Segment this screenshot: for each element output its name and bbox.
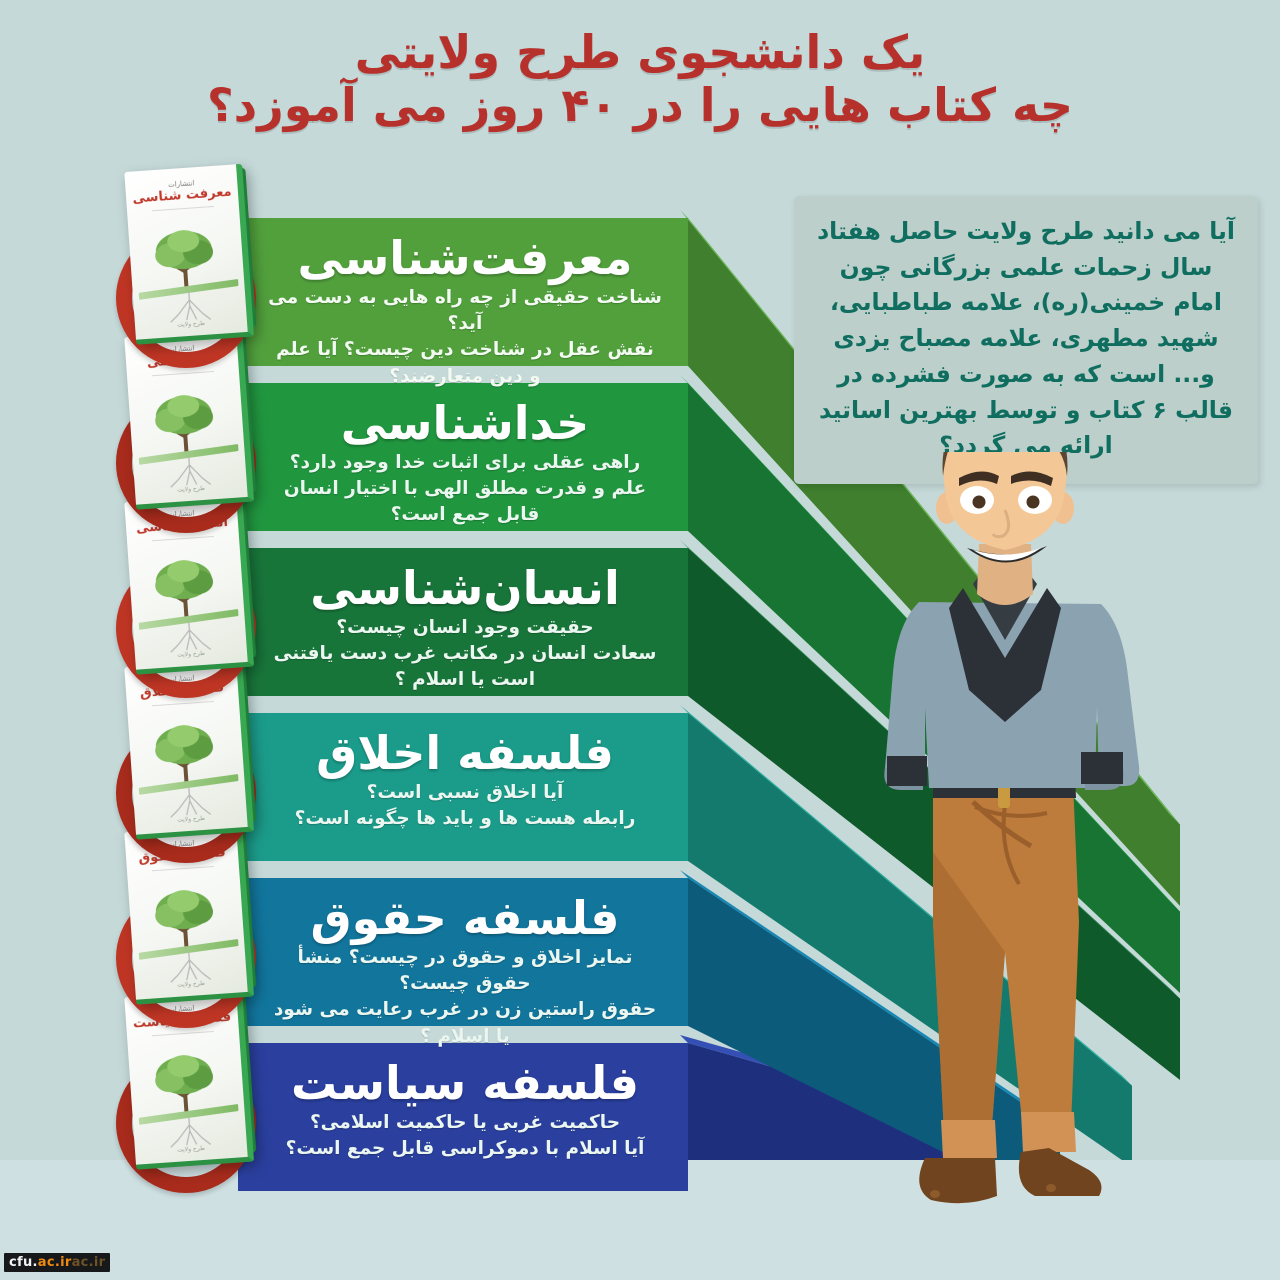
band-5-title: فلسفه حقوق bbox=[268, 894, 662, 943]
book-group-1[interactable]: انتشارات معرفت شناسی طرح ولایت bbox=[108, 166, 283, 366]
student-character-illustration bbox=[855, 452, 1155, 1252]
band-3-subtitle-1: حقیقت وجود انسان چیست؟ bbox=[268, 615, 662, 641]
book-4-rule bbox=[152, 701, 215, 706]
band-4-title: فلسفه اخلاق bbox=[268, 729, 662, 778]
book-6-rule bbox=[152, 1031, 215, 1036]
book-1-cover: انتشارات معرفت شناسی طرح ولایت bbox=[124, 164, 254, 345]
book-5-rule bbox=[152, 866, 215, 871]
info-callout-text: آیا می دانید طرح ولایت حاصل هفتاد سال زح… bbox=[816, 214, 1236, 464]
band-6[interactable]: فلسفه سیاست حاکمیت غربی یا حاکمیت اسلامی… bbox=[238, 1043, 688, 1191]
band-5[interactable]: فلسفه حقوق تمایز اخلاق و حقوق در چیست؟ م… bbox=[238, 878, 688, 1026]
title-line-2: چه کتاب هایی را در ۴۰ روز می آموزد؟ bbox=[0, 79, 1280, 132]
band-6-title: فلسفه سیاست bbox=[268, 1059, 662, 1108]
band-1-subtitle-1: شناخت حقیقی از چه راه هایی به دست می آید… bbox=[268, 285, 662, 338]
book-1-rule bbox=[152, 206, 215, 211]
band-3-subtitle-2: سعادت انسان در مکاتب غرب دست یافتنی است … bbox=[268, 641, 662, 694]
band-5-subtitle-2: حقوق راستین زن در غرب رعایت می شود یا اس… bbox=[268, 997, 662, 1050]
band-2[interactable]: خداشناسی راهی عقلی برای اثبات خدا وجود د… bbox=[238, 383, 688, 531]
book-2-rule bbox=[152, 371, 215, 376]
info-callout-box: آیا می دانید طرح ولایت حاصل هفتاد سال زح… bbox=[794, 196, 1258, 484]
band-2-subtitle-2: علم و قدرت مطلق الهی با اختیار انسان قاب… bbox=[268, 476, 662, 529]
band-6-subtitle-2: آیا اسلام با دموکراسی قابل جمع است؟ bbox=[268, 1136, 662, 1162]
title-line-1: یک دانشجوی طرح ولایتی bbox=[0, 26, 1280, 79]
page-title: یک دانشجوی طرح ولایتی چه کتاب هایی را در… bbox=[0, 26, 1280, 133]
book-1[interactable]: انتشارات معرفت شناسی طرح ولایت bbox=[124, 164, 247, 339]
book-3-rule bbox=[152, 536, 215, 541]
band-3-title: انسان‌شناسی bbox=[268, 564, 662, 613]
band-1-title: معرفت‌شناسی bbox=[268, 234, 662, 283]
band-5-subtitle-1: تمایز اخلاق و حقوق در چیست؟ منشأ حقوق چی… bbox=[268, 945, 662, 998]
band-4[interactable]: فلسفه اخلاق آیا اخلاق نسبی است؟ رابطه هس… bbox=[238, 713, 688, 861]
character-pants bbox=[933, 782, 1079, 1158]
infographic-canvas: یک دانشجوی طرح ولایتی چه کتاب هایی را در… bbox=[0, 0, 1280, 1280]
band-6-subtitle-1: حاکمیت غربی یا حاکمیت اسلامی؟ bbox=[268, 1110, 662, 1136]
band-2-title: خداشناسی bbox=[268, 399, 662, 448]
band-1-subtitle-2: نقش عقل در شناخت دین چیست؟ آیا علم و دین… bbox=[268, 337, 662, 390]
band-3[interactable]: انسان‌شناسی حقیقت وجود انسان چیست؟ سعادت… bbox=[238, 548, 688, 696]
watermark-part-2: ac.ir bbox=[38, 1255, 72, 1270]
watermark: cfu.ac.irac.ir bbox=[4, 1253, 110, 1272]
band-4-subtitle-2: رابطه هست ها و باید ها چگونه است؟ bbox=[268, 806, 662, 832]
band-2-subtitle-1: راهی عقلی برای اثبات خدا وجود دارد؟ bbox=[268, 450, 662, 476]
band-1[interactable]: معرفت‌شناسی شناخت حقیقی از چه راه هایی ب… bbox=[238, 218, 688, 366]
band-4-subtitle-1: آیا اخلاق نسبی است؟ bbox=[268, 780, 662, 806]
watermark-part-1: cfu. bbox=[9, 1255, 38, 1270]
watermark-part-3: ac.ir bbox=[72, 1255, 106, 1270]
